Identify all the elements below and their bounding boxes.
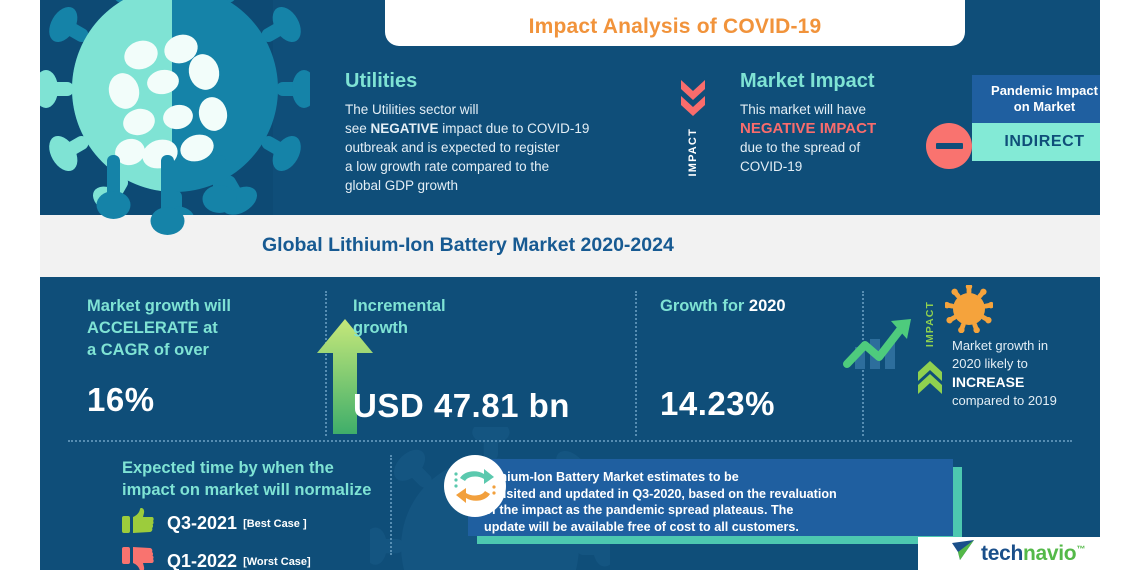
minus-circle-icon <box>926 123 972 169</box>
market-impact-line-1: This market will have <box>740 100 955 119</box>
incremental-value: USD 47.81 bn <box>353 387 633 425</box>
refresh-cycle-icon <box>444 455 506 517</box>
utilities-line-1: The Utilities sector will <box>345 100 665 119</box>
vertical-divider-2 <box>635 291 637 436</box>
technavio-wordmark: technavio™ <box>981 542 1085 566</box>
incremental-label-line2: growth <box>353 317 633 339</box>
market-impact-line-3: due to the spread of <box>740 138 955 157</box>
impact2020-increase: INCREASE <box>952 373 1100 392</box>
market-impact-body: This market will have NEGATIVE IMPACT du… <box>740 100 955 176</box>
normalize-block: Expected time by when the impact on mark… <box>122 457 442 570</box>
growth2020-label-teal: Growth for <box>660 297 749 315</box>
metrics-section: Market growth will ACCELERATE at a CAGR … <box>40 277 1100 570</box>
worst-case-row: Q1-2022 [Worst Case] <box>122 546 442 570</box>
double-chevron-down-icon <box>678 78 708 122</box>
technavio-arrow-icon <box>952 540 976 567</box>
growth2020-value: 14.23% <box>660 385 860 423</box>
worst-case-value: Q1-2022 <box>167 551 237 570</box>
growth2020-label: Growth for 2020 <box>660 295 860 317</box>
utilities-line2-pre: see <box>345 121 371 136</box>
utilities-line-3: outbreak and is expected to register <box>345 138 665 157</box>
impact-divider: IMPACT <box>676 78 710 203</box>
cagr-label: Market growth will ACCELERATE at a CAGR … <box>87 295 327 361</box>
cagr-label-line2: ACCELERATE at <box>87 317 327 339</box>
orange-virus-icon <box>945 285 993 338</box>
utilities-negative-word: NEGATIVE <box>371 121 439 136</box>
page-title: Impact Analysis of COVID-19 <box>529 15 822 39</box>
market-title: Global Lithium-Ion Battery Market 2020-2… <box>262 234 674 257</box>
impact-divider-label: IMPACT <box>687 128 699 177</box>
best-case-value: Q3-2021 <box>167 513 237 534</box>
infographic-canvas: Impact Analysis of COVID-19 Utilities Th… <box>0 0 1140 570</box>
thumbs-up-icon <box>122 508 154 539</box>
pandemic-heading-line1: Pandemic Impact <box>976 83 1100 99</box>
minus-bar <box>936 143 963 149</box>
impact-2020-label: IMPACT <box>924 301 936 347</box>
note-line-4: update will be available free of cost to… <box>484 519 941 536</box>
market-impact-negative: NEGATIVE IMPACT <box>740 119 955 138</box>
utilities-line-4: a low growth rate compared to the <box>345 157 665 176</box>
cagr-label-line3: a CAGR of over <box>87 339 327 361</box>
market-title-band: Global Lithium-Ion Battery Market 2020-2… <box>40 215 1100 277</box>
note-text: Lithium-Ion Battery Market estimates to … <box>484 469 941 535</box>
cagr-value: 16% <box>87 381 327 419</box>
logo-text-navio: navio <box>1023 542 1076 565</box>
header-title-pill: Impact Analysis of COVID-19 <box>385 0 965 46</box>
utilities-heading: Utilities <box>345 70 665 93</box>
thumbs-down-icon <box>122 546 154 570</box>
pandemic-impact-value: INDIRECT <box>972 123 1100 161</box>
impact-2020-divider: IMPACT <box>915 301 945 431</box>
impact2020-line-2: 2020 likely to <box>952 355 1100 373</box>
metric-cagr: Market growth will ACCELERATE at a CAGR … <box>87 295 327 419</box>
utilities-block: Utilities The Utilities sector will see … <box>345 70 665 195</box>
impact-2020-text: Market growth in 2020 likely to INCREASE… <box>952 337 1100 410</box>
pandemic-impact-heading: Pandemic Impact on Market <box>972 75 1100 123</box>
utilities-line-5: global GDP growth <box>345 176 665 195</box>
pandemic-heading-line2: on Market <box>976 99 1100 115</box>
market-impact-heading: Market Impact <box>740 70 955 93</box>
horizontal-divider <box>68 440 1072 442</box>
best-case-note: [Best Case ] <box>243 518 307 530</box>
double-chevron-up-icon <box>916 352 944 399</box>
metric-growth-2020: Growth for 2020 14.23% <box>660 295 860 423</box>
note-line-3: of the impact as the pandemic spread pla… <box>484 502 941 519</box>
normalize-heading-line1: Expected time by when the <box>122 457 442 479</box>
utilities-body: The Utilities sector will see NEGATIVE i… <box>345 100 665 195</box>
logo-text-tech: tech <box>981 542 1023 565</box>
technavio-logo: technavio™ <box>952 540 1085 567</box>
impact2020-line-4: compared to 2019 <box>952 392 1100 410</box>
best-case-row: Q3-2021 [Best Case ] <box>122 508 442 539</box>
growth2020-label-year: 2020 <box>749 297 786 315</box>
logo-trademark: ™ <box>1076 544 1085 554</box>
note-box: Lithium-Ion Battery Market estimates to … <box>468 459 953 536</box>
pandemic-impact-card: Pandemic Impact on Market INDIRECT <box>972 75 1100 161</box>
incremental-label-line1: Incremental <box>353 295 633 317</box>
metric-incremental-growth: Incremental growth USD 47.81 bn <box>353 295 633 425</box>
market-impact-line-4: COVID-19 <box>740 157 955 176</box>
virus-legs-decoration <box>95 155 275 265</box>
cagr-label-line1: Market growth will <box>87 295 327 317</box>
market-impact-block: Market Impact This market will have NEGA… <box>740 70 955 176</box>
worst-case-note: [Worst Case] <box>243 556 311 568</box>
normalize-heading: Expected time by when the impact on mark… <box>122 457 442 501</box>
utilities-line2-post: impact due to COVID-19 <box>439 121 590 136</box>
impact2020-line-1: Market growth in <box>952 337 1100 355</box>
incremental-label: Incremental growth <box>353 295 633 339</box>
impact2020-increase-word: INCREASE <box>952 374 1024 390</box>
utilities-line-2: see NEGATIVE impact due to COVID-19 <box>345 119 665 138</box>
note-line-2: revisited and updated in Q3-2020, based … <box>484 486 941 503</box>
note-line-1: Lithium-Ion Battery Market estimates to … <box>484 469 941 486</box>
normalize-heading-line2: impact on market will normalize <box>122 479 442 501</box>
